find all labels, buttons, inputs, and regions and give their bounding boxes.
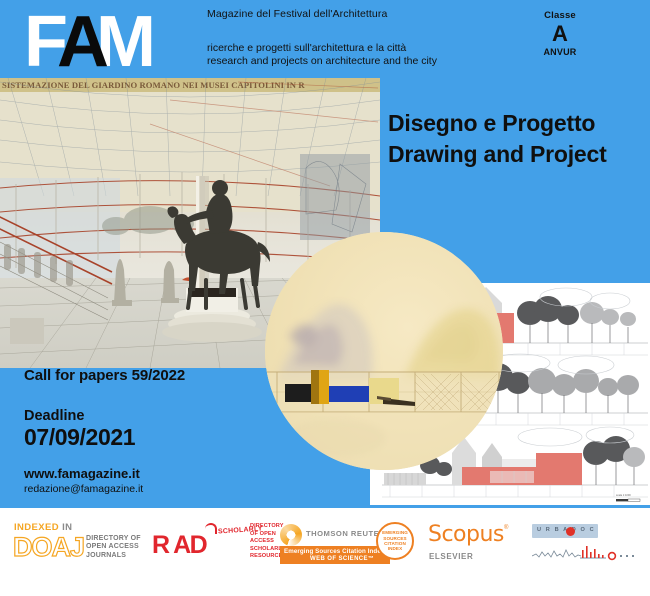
deadline-date: 07/09/2021 xyxy=(24,424,135,451)
urbadoc-chip: U R B A D O C xyxy=(532,524,598,538)
watercolour-circle-image xyxy=(265,232,503,470)
magazine-subtitle-block: ricerche e progetti sull'architettura e … xyxy=(207,42,507,67)
web-of-science-label: WEB OF SCIENCE™ xyxy=(310,556,374,562)
magazine-tagline-block: Magazine del Festival dell'Architettura xyxy=(207,8,497,20)
road-logo: R AD SCHOLARLY DIRECTORY OF OPEN ACCESS … xyxy=(152,521,272,563)
esci-badge-icon: EMERGING SOURCES CITATION INDEX xyxy=(376,522,414,560)
magazine-subtitle-en: research and projects on architecture an… xyxy=(207,55,507,68)
magazine-subtitle-it: ricerche e progetti sull'architettura e … xyxy=(207,42,507,55)
elsevier-label: ELSEVIER xyxy=(429,552,473,561)
deadline-label: Deadline xyxy=(24,408,135,424)
poster-header: F A M Magazine del Festival dell'Archite… xyxy=(0,0,650,78)
issue-title-it: Disegno e Progetto xyxy=(388,108,648,139)
call-for-papers-label: Call for papers 59/2022 xyxy=(24,367,185,384)
website-link[interactable]: www.famagazine.it xyxy=(24,466,143,481)
scopus-registered-mark: ® xyxy=(504,525,508,531)
urbadoc-logo: U R B A D O C xyxy=(532,522,637,564)
esci-badge-text: EMERGING SOURCES CITATION INDEX xyxy=(378,530,412,552)
scopus-logo: Scopus ® ELSEVIER xyxy=(428,522,518,568)
rating-agency: ANVUR xyxy=(520,47,600,57)
doaj-subtitle-line3: JOURNALS xyxy=(86,552,141,560)
svg-text:scala 1:1000: scala 1:1000 xyxy=(616,493,631,497)
doaj-subtitle-line1: DIRECTORY OF xyxy=(86,535,141,543)
esci-label: Emerging Sources Citation Index xyxy=(284,548,384,555)
thomson-swirl-icon xyxy=(280,524,302,546)
urbadoc-waveform-icon xyxy=(532,544,637,562)
email-link[interactable]: redazione@famagazine.it xyxy=(24,483,143,495)
doaj-subtitle-line2: OPEN ACCESS xyxy=(86,543,141,551)
thomson-reuters-logo: THOMSON REUTERS Emerging Sources Citatio… xyxy=(280,522,415,564)
web-of-science-band: Emerging Sources Citation Index WEB OF S… xyxy=(280,546,390,564)
famagazine-call-for-papers-poster: F A M Magazine del Festival dell'Archite… xyxy=(0,0,650,596)
anvur-rating-badge: Classe A ANVUR xyxy=(520,10,600,57)
contact-block: www.famagazine.it redazione@famagazine.i… xyxy=(24,466,143,495)
rating-grade: A xyxy=(520,22,600,46)
road-wordmark: R AD xyxy=(152,531,206,560)
watercolour-svg-icon xyxy=(265,232,503,470)
deadline-block: Deadline 07/09/2021 xyxy=(24,408,135,451)
indexing-footer: INDEXED IN DOAJ DIRECTORY OF OPEN ACCESS… xyxy=(0,508,650,596)
urbadoc-dot-icon xyxy=(566,527,575,536)
rating-label: Classe xyxy=(520,10,600,21)
doaj-wordmark: DOAJ xyxy=(13,532,84,563)
doaj-logo: INDEXED IN DOAJ DIRECTORY OF OPEN ACCESS… xyxy=(14,522,159,562)
open-lock-icon xyxy=(202,523,216,539)
scopus-wordmark: Scopus xyxy=(428,522,504,547)
fam-logo-letter-a: A xyxy=(57,6,109,78)
magazine-tagline: Magazine del Festival dell'Architettura xyxy=(207,8,497,20)
doaj-subtitle: DIRECTORY OF OPEN ACCESS JOURNALS xyxy=(86,535,141,560)
issue-title-en: Drawing and Project xyxy=(388,139,648,170)
call-for-papers-block: Call for papers 59/2022 xyxy=(24,367,185,384)
issue-title: Disegno e Progetto Drawing and Project xyxy=(388,108,648,170)
fam-logo: F A M xyxy=(24,6,164,68)
